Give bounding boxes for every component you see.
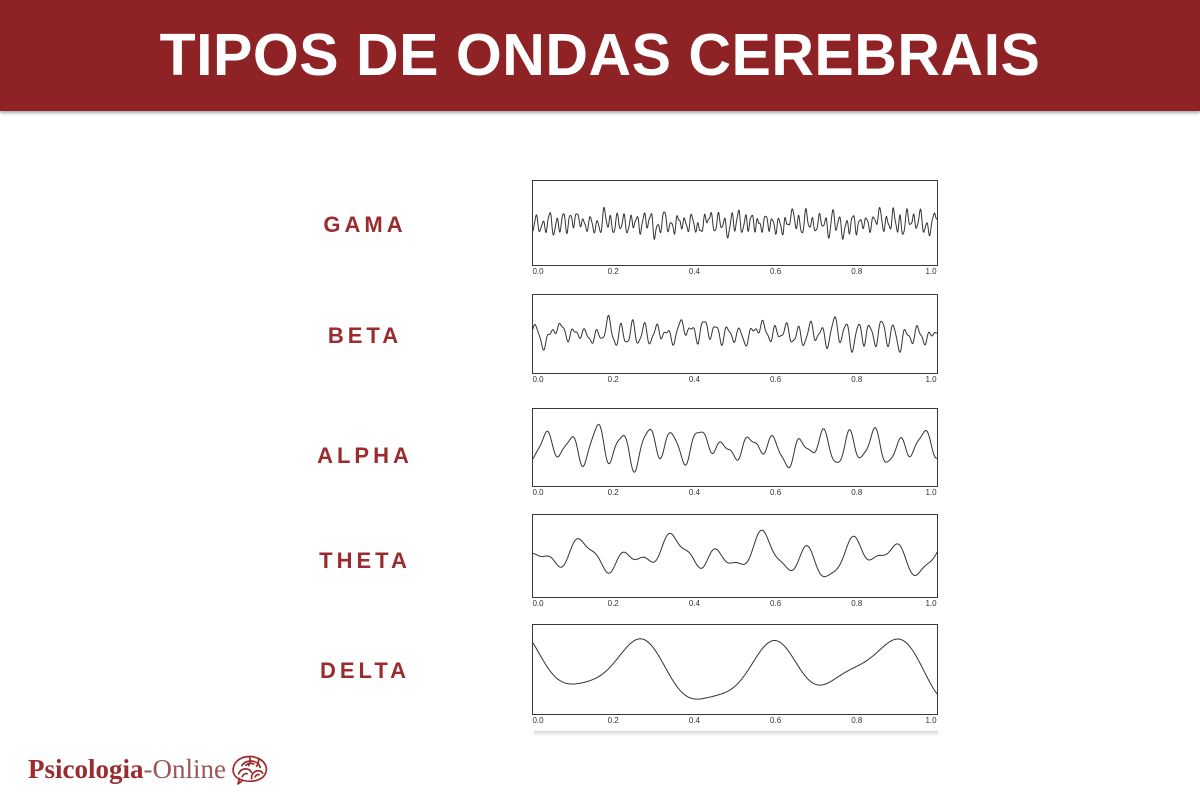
brain-wave-chart: GAMA0.00.20.40.60.81.0BETA0.00.20.40.60.…: [0, 111, 1200, 736]
wave-panel-gama: 0.00.20.40.60.81.0: [532, 180, 938, 282]
axis-tick-label: 0.4: [689, 488, 700, 497]
wave-trace-svg: [533, 409, 937, 486]
panel-drop-shadow: [534, 731, 938, 736]
axis-tick-label: 0.0: [532, 599, 543, 608]
axis-tick-label: 0.2: [608, 599, 619, 608]
brain-icon: [230, 753, 270, 785]
axis-tick-label: 0.8: [851, 375, 862, 384]
wave-label-beta: BETA: [240, 323, 490, 349]
wave-plot-box: [532, 294, 938, 374]
header-banner: TIPOS DE ONDAS CEREBRAIS: [0, 0, 1200, 111]
axis-tick-label: 0.6: [770, 488, 781, 497]
wave-x-axis: 0.00.20.40.60.81.0: [532, 266, 938, 282]
wave-plot-box: [532, 408, 938, 487]
axis-tick-label: 0.4: [689, 267, 700, 276]
wave-x-axis: 0.00.20.40.60.81.0: [532, 598, 938, 614]
wave-trace-svg: [533, 515, 937, 597]
logo-text-primary: Psicologia: [28, 756, 144, 783]
wave-x-axis: 0.00.20.40.60.81.0: [532, 487, 938, 503]
wave-trace-svg: [533, 625, 937, 714]
axis-tick-label: 0.8: [851, 599, 862, 608]
axis-tick-label: 0.6: [770, 716, 781, 725]
wave-panel-theta: 0.00.20.40.60.81.0: [532, 514, 938, 614]
wave-panel-delta: 0.00.20.40.60.81.0: [532, 624, 938, 731]
axis-tick-label: 0.0: [532, 375, 543, 384]
axis-tick-label: 0.0: [532, 716, 543, 725]
axis-tick-label: 0.0: [532, 267, 543, 276]
wave-label-delta: DELTA: [240, 658, 490, 684]
axis-tick-label: 1.0: [925, 599, 936, 608]
wave-panel-alpha: 0.00.20.40.60.81.0: [532, 408, 938, 503]
axis-tick-label: 0.6: [770, 267, 781, 276]
wave-trace-svg: [533, 181, 937, 265]
wave-label-theta: THETA: [240, 548, 490, 574]
axis-tick-label: 0.2: [608, 716, 619, 725]
axis-tick-label: 0.2: [608, 488, 619, 497]
wave-trace-svg: [533, 295, 937, 373]
axis-tick-label: 0.2: [608, 375, 619, 384]
wave-trace-theta: [533, 530, 937, 576]
page-title: TIPOS DE ONDAS CEREBRAIS: [140, 26, 1061, 85]
axis-tick-label: 0.4: [689, 716, 700, 725]
axis-tick-label: 1.0: [925, 267, 936, 276]
site-logo[interactable]: Psicologia -Online: [28, 750, 270, 788]
wave-label-gama: GAMA: [240, 212, 490, 238]
wave-plot-box: [532, 514, 938, 598]
axis-tick-label: 0.4: [689, 599, 700, 608]
axis-tick-label: 0.8: [851, 716, 862, 725]
wave-panel-beta: 0.00.20.40.60.81.0: [532, 294, 938, 390]
axis-tick-label: 1.0: [925, 488, 936, 497]
wave-plot-box: [532, 180, 938, 266]
axis-tick-label: 0.8: [851, 267, 862, 276]
wave-trace-delta: [533, 639, 937, 699]
axis-tick-label: 0.6: [770, 599, 781, 608]
axis-tick-label: 1.0: [925, 375, 936, 384]
wave-trace-beta: [533, 315, 937, 352]
axis-tick-label: 0.2: [608, 267, 619, 276]
axis-tick-label: 0.0: [532, 488, 543, 497]
wave-label-alpha: ALPHA: [240, 443, 490, 469]
axis-tick-label: 0.6: [770, 375, 781, 384]
wave-trace-alpha: [533, 424, 937, 472]
wave-plot-box: [532, 624, 938, 715]
wave-x-axis: 0.00.20.40.60.81.0: [532, 715, 938, 731]
axis-tick-label: 1.0: [925, 716, 936, 725]
axis-tick-label: 0.8: [851, 488, 862, 497]
logo-text-secondary: -Online: [144, 756, 226, 783]
wave-trace-gama: [533, 207, 937, 239]
axis-tick-label: 0.4: [689, 375, 700, 384]
wave-x-axis: 0.00.20.40.60.81.0: [532, 374, 938, 390]
